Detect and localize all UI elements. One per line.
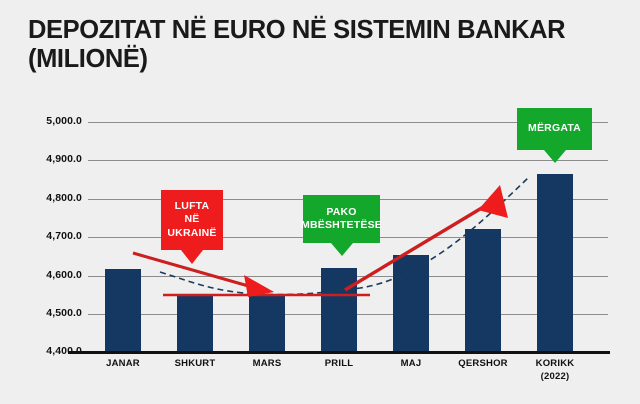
annotation-mergata-label: MËRGATA: [528, 122, 581, 135]
annotation-lufta-label: LUFTA NË UKRAINË: [167, 200, 216, 240]
annotation-pako-tail: [331, 243, 353, 256]
chart-root: DEPOZITAT NË EURO NË SISTEMIN BANKAR (MI…: [0, 0, 640, 404]
rising-arrow-head: [478, 185, 508, 218]
annotation-lufta-ne-ukraine[interactable]: LUFTA NË UKRAINË: [161, 190, 223, 250]
annotation-pako-label: PAKO MBËSHTETËSE: [301, 206, 382, 233]
x-label-korikk: KORIKK (2022): [510, 358, 600, 384]
annotation-lufta-tail: [181, 250, 203, 264]
annotation-pako-mbeshtetese[interactable]: PAKO MBËSHTETËSE: [303, 195, 380, 243]
annotation-mergata-tail: [544, 150, 566, 163]
plot-area: 5,000.0 4,900.0 4,800.0 4,700.0 4,600.0 …: [0, 0, 640, 404]
annotation-mergata[interactable]: MËRGATA: [517, 108, 592, 150]
